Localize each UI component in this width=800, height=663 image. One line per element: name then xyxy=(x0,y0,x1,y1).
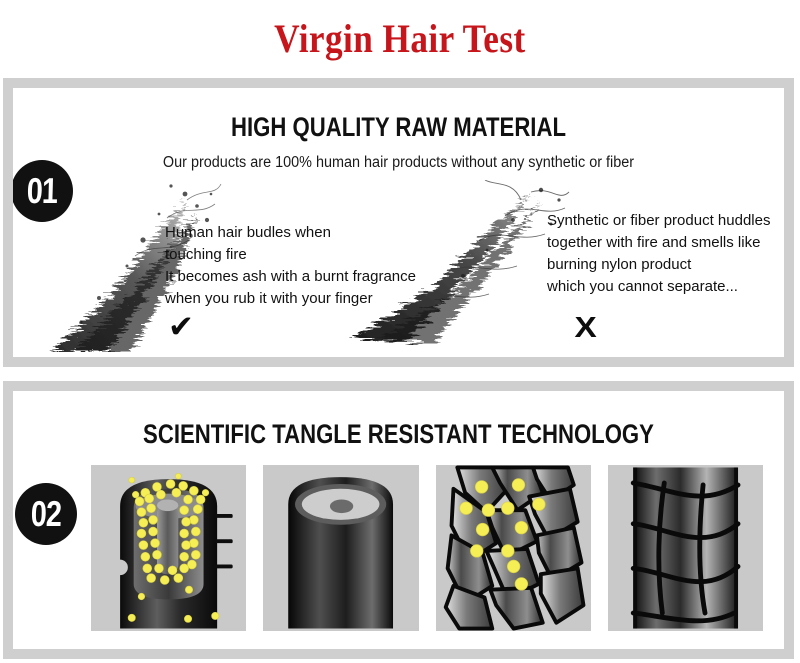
infographic-page: Virgin Hair Test xyxy=(0,0,800,663)
human-hair-line-1: Human hair budles when xyxy=(165,222,416,244)
step-badge-01: 01 xyxy=(13,160,73,222)
section-panel-01: 01 HIGH QUALITY RAW MATERIAL Our product… xyxy=(3,78,794,367)
synthetic-fiber-line-1: Synthetic or fiber product huddles xyxy=(547,210,770,232)
micrograph-strip xyxy=(91,465,763,631)
micrograph-smooth-closed-cuticle xyxy=(608,465,763,631)
micrograph-damaged-cuticle-scales-with-particles xyxy=(436,465,591,631)
section-panel-02: 02 SCIENTIFIC TANGLE RESISTANT TECHNOLOG… xyxy=(3,381,794,659)
section-01-subtitle: Our products are 100% human hair product… xyxy=(40,154,757,172)
human-hair-line-2: touching fire xyxy=(165,244,416,266)
human-hair-description: Human hair budles when touching fire It … xyxy=(165,222,416,310)
section-panel-01-inner: 01 HIGH QUALITY RAW MATERIAL Our product… xyxy=(13,88,784,357)
synthetic-fiber-line-3: burning nylon product xyxy=(547,254,770,276)
page-title-bar: Virgin Hair Test xyxy=(0,0,800,78)
step-badge-02-label: 02 xyxy=(30,493,62,535)
human-hair-line-3: It becomes ash with a burnt fragrance xyxy=(165,266,416,288)
step-badge-02: 02 xyxy=(15,483,77,545)
synthetic-fiber-description: Synthetic or fiber product huddles toget… xyxy=(547,210,770,298)
synthetic-fiber-line-2: together with fire and smells like xyxy=(547,232,770,254)
section-01-heading: HIGH QUALITY RAW MATERIAL xyxy=(82,112,714,143)
page-title: Virgin Hair Test xyxy=(274,19,526,59)
human-hair-line-4: when you rub it with your finger xyxy=(165,288,416,310)
synthetic-fiber-line-4: which you cannot separate... xyxy=(547,276,770,298)
step-badge-01-label: 01 xyxy=(26,170,58,212)
micrograph-hair-shaft-cross-section-smooth xyxy=(263,465,418,631)
section-02-heading: SCIENTIFIC TANGLE RESISTANT TECHNOLOGY xyxy=(82,419,714,450)
section-panel-02-inner: 02 SCIENTIFIC TANGLE RESISTANT TECHNOLOG… xyxy=(13,391,784,649)
micrograph-hair-shaft-cross-section-with-particles xyxy=(91,465,246,631)
cross-icon: X xyxy=(575,314,597,343)
check-icon: ✔ xyxy=(168,311,194,342)
